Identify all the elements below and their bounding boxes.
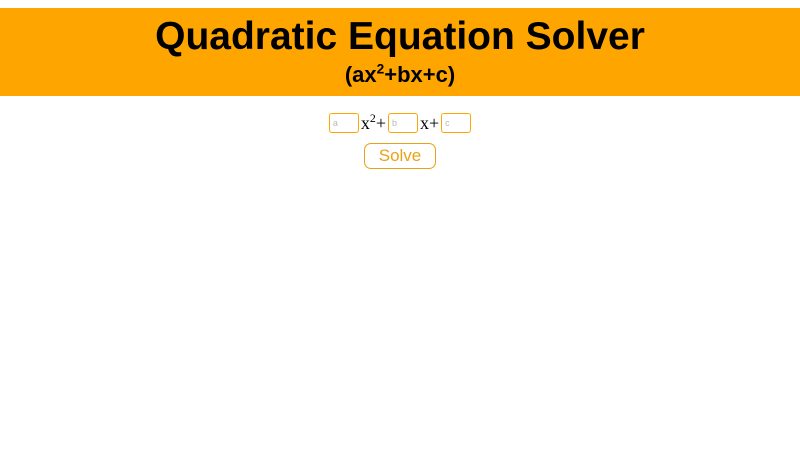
solve-button[interactable]: Solve (364, 143, 437, 169)
operator-linear: x+ (419, 113, 440, 133)
operator-quadratic-variable: x (361, 113, 370, 133)
subtitle-suffix: +bx+c) (384, 62, 455, 87)
header-banner: Quadratic Equation Solver (ax2+bx+c) (0, 8, 800, 96)
operator-quadratic: x2+ (360, 113, 387, 133)
page-title: Quadratic Equation Solver (0, 14, 800, 60)
button-row: Solve (0, 133, 800, 169)
coefficient-c-input[interactable] (441, 113, 471, 133)
page-root: Quadratic Equation Solver (ax2+bx+c) x2+… (0, 0, 800, 450)
page-subtitle: (ax2+bx+c) (0, 60, 800, 88)
coefficient-b-input[interactable] (388, 113, 418, 133)
subtitle-prefix: (ax (345, 62, 377, 87)
equation-row: x2+x+ (328, 112, 472, 133)
results-area (0, 169, 800, 409)
coefficient-a-input[interactable] (329, 113, 359, 133)
solver-body: x2+x+ Solve (0, 96, 800, 409)
operator-quadratic-plus: + (376, 113, 386, 133)
top-gutter (0, 0, 800, 8)
